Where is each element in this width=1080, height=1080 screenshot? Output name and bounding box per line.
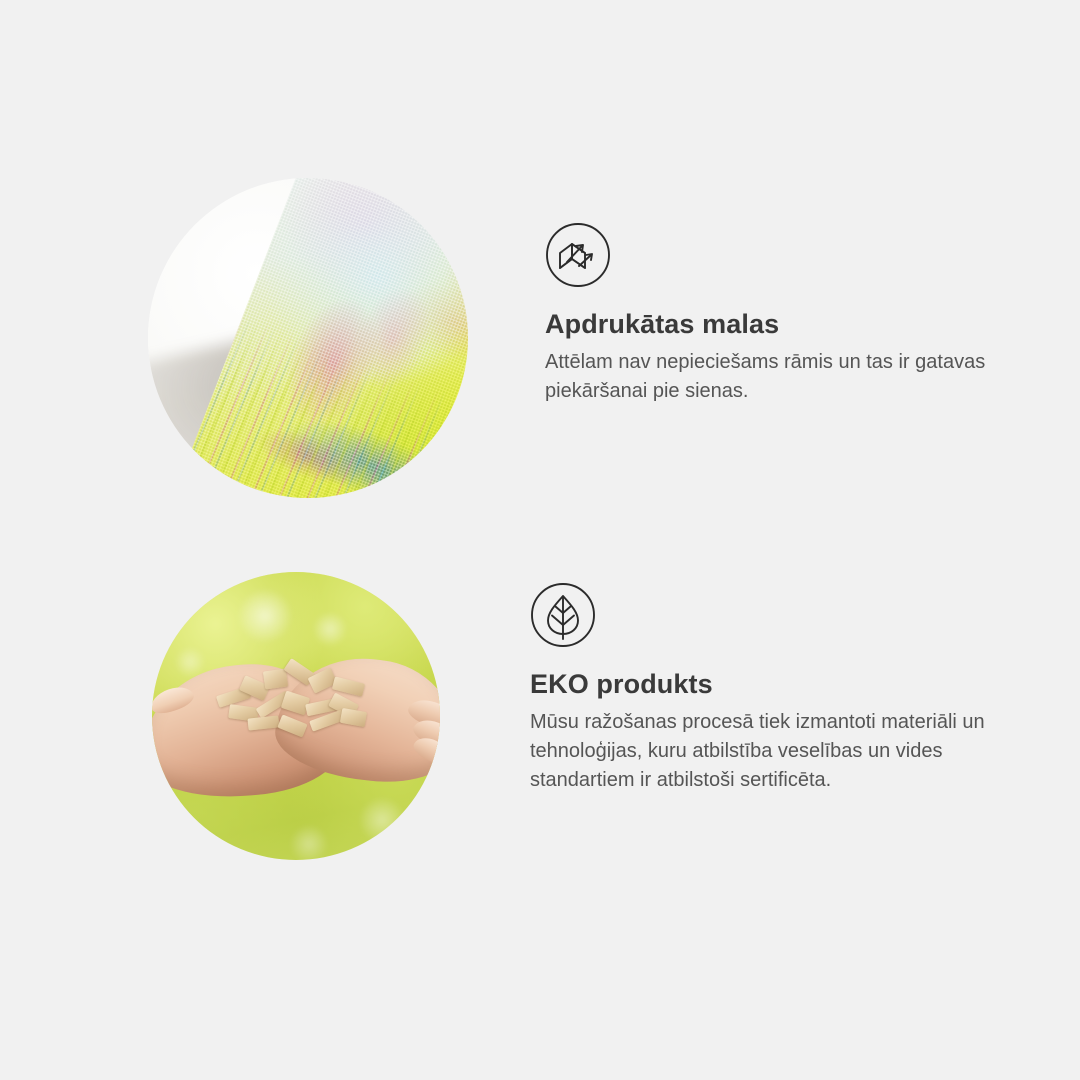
feature-block-eco-product: EKO produkts Mūsu ražošanas procesā tiek… — [0, 556, 1030, 860]
feature-description-eco-product: Mūsu ražošanas procesā tiek izmantoti ma… — [530, 708, 1030, 795]
bokeh-light — [290, 825, 328, 860]
feature-title-eco-product: EKO produkts — [530, 668, 1030, 700]
media-printed-edges — [0, 160, 468, 498]
wrapped-canvas-edge-icon — [545, 222, 611, 288]
cupped-hands — [152, 653, 440, 809]
feature-title-printed-edges: Apdrukātas malas — [545, 308, 1045, 340]
leaf-icon — [530, 582, 596, 648]
text-column-printed-edges: Apdrukātas malas Attēlam nav nepieciešam… — [545, 222, 1045, 406]
wood-chips-pile — [206, 662, 400, 743]
hands-holding-wood-chips-photo — [152, 572, 440, 860]
canvas-print-corner-photo — [148, 178, 468, 498]
finger — [152, 683, 197, 718]
feature-description-printed-edges: Attēlam nav nepieciešams rāmis un tas ir… — [545, 348, 1045, 406]
feature-block-printed-edges: Apdrukātas malas Attēlam nav nepieciešam… — [0, 160, 1045, 498]
infographic-canvas: Apdrukātas malas Attēlam nav nepieciešam… — [0, 0, 1080, 1080]
media-eco-product — [0, 556, 440, 860]
text-column-eco-product: EKO produkts Mūsu ražošanas procesā tiek… — [530, 582, 1030, 795]
